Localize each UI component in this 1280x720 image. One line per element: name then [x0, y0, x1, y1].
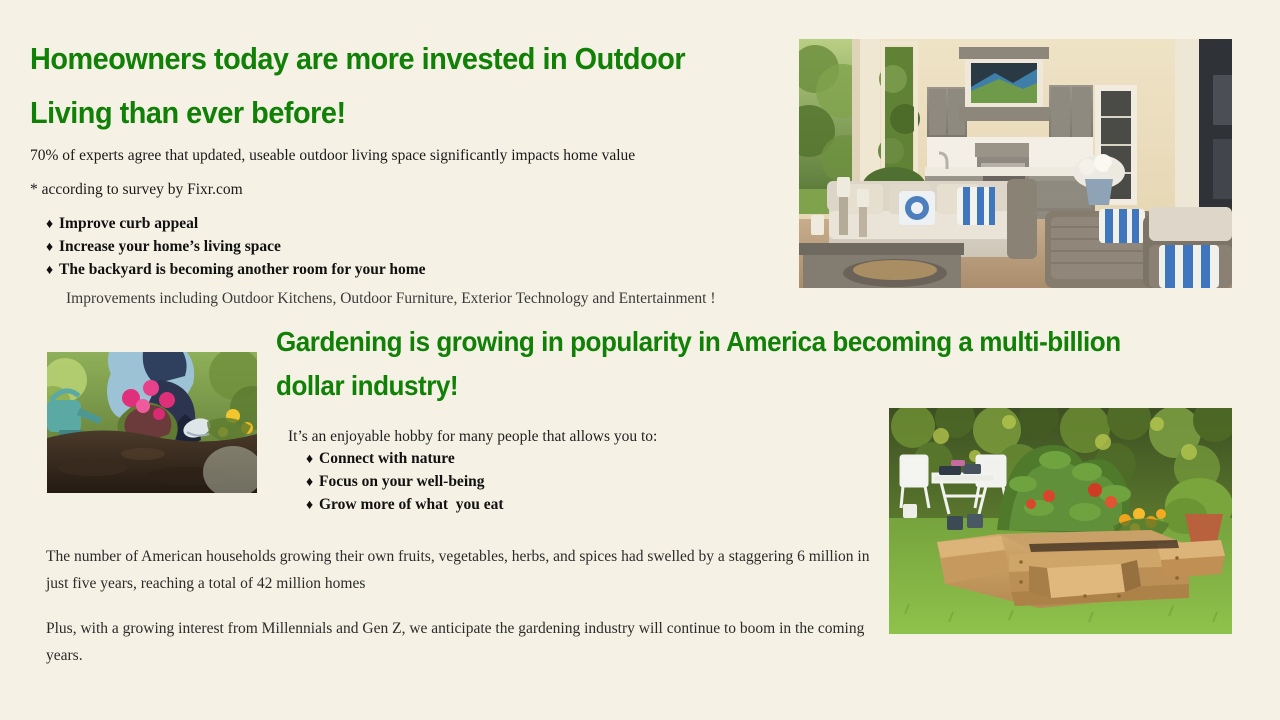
list-item: ♦The backyard is becoming another room f… — [46, 259, 426, 282]
planting-flowers-photo — [47, 352, 257, 493]
diamond-bullet-icon: ♦ — [46, 260, 59, 282]
raised-garden-bed-photo — [889, 408, 1232, 634]
list-item: ♦Increase your home’s living space — [46, 236, 426, 259]
outdoor-living-headline: Homeowners today are more invested in Ou… — [30, 32, 737, 140]
diamond-bullet-icon: ♦ — [306, 472, 319, 494]
diamond-bullet-icon: ♦ — [46, 214, 59, 236]
improvements-note: Improvements including Outdoor Kitchens,… — [66, 286, 766, 312]
households-paragraph: The number of American households growin… — [46, 543, 876, 597]
gardening-headline: Gardening is growing in popularity in Am… — [276, 320, 1122, 408]
list-item: ♦Connect with nature — [306, 448, 504, 471]
outdoor-patio-photo — [799, 39, 1232, 288]
list-item-label: The backyard is becoming another room fo… — [59, 261, 426, 278]
list-item-label: Improve curb appeal — [59, 215, 198, 232]
millennials-paragraph: Plus, with a growing interest from Mille… — [46, 615, 876, 669]
gardening-hobby-lead: It’s an enjoyable hobby for many people … — [288, 427, 848, 446]
list-item: ♦Improve curb appeal — [46, 213, 426, 236]
outdoor-stat-line: 70% of experts agree that updated, useab… — [30, 146, 790, 165]
raised-garden-bed-illustration — [889, 408, 1232, 634]
planting-flowers-illustration — [47, 352, 257, 493]
gardening-bullet-list: ♦Connect with nature ♦Focus on your well… — [306, 448, 504, 517]
diamond-bullet-icon: ♦ — [306, 495, 319, 517]
outdoor-bullet-list: ♦Improve curb appeal ♦Increase your home… — [46, 213, 426, 282]
outdoor-source-line: * according to survey by Fixr.com — [30, 180, 530, 199]
list-item: ♦Grow more of what you eat — [306, 494, 504, 517]
diamond-bullet-icon: ♦ — [46, 237, 59, 259]
list-item-label: Grow more of what you eat — [319, 496, 504, 513]
list-item-label: Connect with nature — [319, 450, 455, 467]
list-item-label: Increase your home’s living space — [59, 238, 281, 255]
list-item: ♦Focus on your well-being — [306, 471, 504, 494]
diamond-bullet-icon: ♦ — [306, 449, 319, 471]
list-item-label: Focus on your well-being — [319, 473, 485, 490]
outdoor-patio-illustration — [799, 39, 1232, 288]
slide-canvas: Homeowners today are more invested in Ou… — [0, 0, 1280, 720]
